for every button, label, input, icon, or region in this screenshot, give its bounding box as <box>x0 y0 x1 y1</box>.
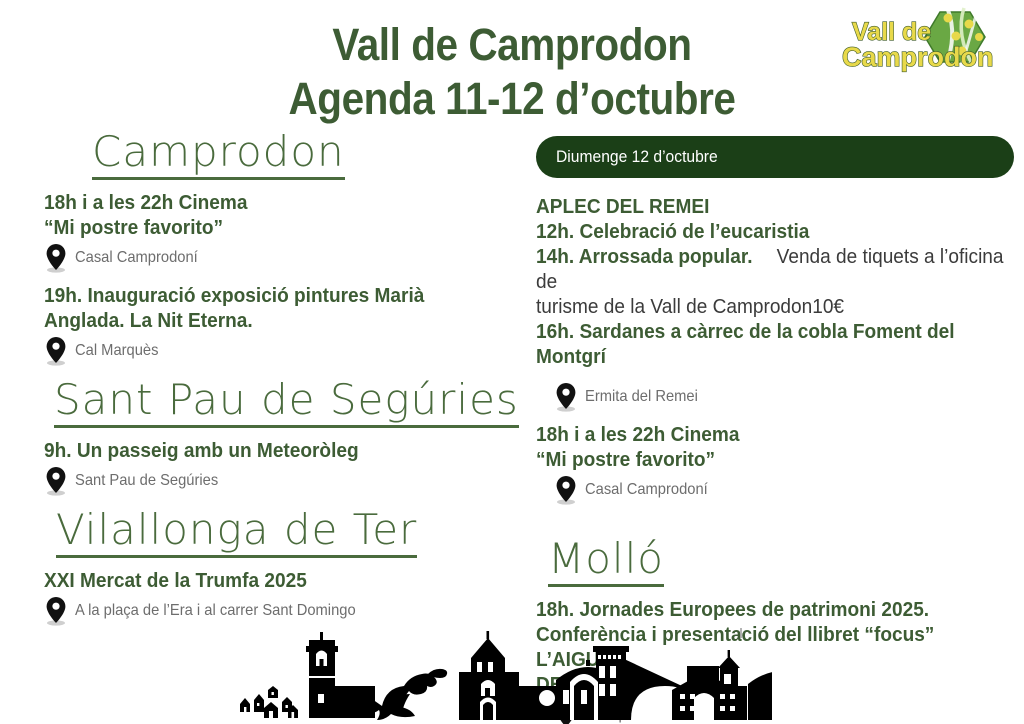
left-column: Camprodon 18h i a les 22h Cinema “Mi pos… <box>44 128 514 636</box>
map-pin-icon <box>44 243 68 273</box>
venue-row: A la plaça de l’Era i al carrer Sant Dom… <box>44 596 514 626</box>
title-line-2: Agenda 11-12 d’octubre <box>51 72 973 126</box>
section-heading-mollo: Molló <box>548 535 664 587</box>
venue-row: Sant Pau de Segúries <box>44 466 514 496</box>
map-pin-icon <box>44 336 68 366</box>
artifact-speck <box>740 628 742 638</box>
event-title-line-2: Anglada. La Nit Eterna. <box>44 308 516 333</box>
event-camprodon-exposicio: 19h. Inauguració exposició pintures Mari… <box>44 283 514 366</box>
event-vilallonga-trumfa: XXI Mercat de la Trumfa 2025 A la plaça … <box>44 568 514 626</box>
venue-label: Ermita del Remei <box>585 388 698 406</box>
aplec-14h-plain-cont: turisme de la Vall de Camprodon10€ <box>536 295 844 318</box>
map-pin-icon <box>554 475 578 505</box>
event-title-line-1: 19h. Inauguració exposició pintures Mari… <box>44 283 516 308</box>
venue-label: Casal Camprodoní <box>585 481 708 499</box>
section-heading-sant-pau-de-seguries: Sant Pau de Segúries <box>54 376 519 428</box>
event-title-line-1: 18h i a les 22h Cinema <box>44 190 516 215</box>
event-aplec-del-remei: APLEC DEL REMEI 12h. Celebració de l’euc… <box>536 194 1014 412</box>
event-title-line-1: 9h. Un passeig amb un Meteoròleg <box>44 438 516 463</box>
event-sant-pau-meteoroleg: 9h. Un passeig amb un Meteoròleg Sant Pa… <box>44 438 514 496</box>
poster-canvas: Vall de Camprodon Agenda 11-12 d’octubre… <box>0 0 1024 724</box>
aplec-14h-bold: 14h. Arrossada popular. <box>536 245 753 268</box>
event-title-line-1: 18h i a les 22h Cinema <box>536 422 1016 447</box>
venue-row: Cal Marquès <box>44 336 514 366</box>
section-heading-camprodon: Camprodon <box>92 128 345 180</box>
map-pin-icon <box>554 382 578 412</box>
venue-row: Ermita del Remei <box>554 382 1014 412</box>
event-title-line-2: “Mi postre favorito” <box>536 447 1016 472</box>
event-title-line-1: XXI Mercat de la Trumfa 2025 <box>44 568 516 593</box>
aplec-line-14h: 14h. Arrossada popular.Venda de tiquets … <box>536 244 1016 294</box>
map-pin-icon <box>44 596 68 626</box>
event-title-line-2: “Mi postre favorito” <box>44 215 516 240</box>
day-header-label: Diumenge 12 d’octubre <box>556 147 718 167</box>
map-pin-icon <box>44 466 68 496</box>
event-right-cinema: 18h i a les 22h Cinema “Mi postre favori… <box>536 422 1014 505</box>
aplec-line-14h-cont: turisme de la Vall de Camprodon10€ <box>536 294 1016 319</box>
venue-row: Casal Camprodoní <box>554 475 1014 505</box>
venue-label: A la plaça de l’Era i al carrer Sant Dom… <box>75 602 356 620</box>
venue-label: Casal Camprodoní <box>75 249 198 267</box>
camprodon-skyline-silhouette <box>232 624 772 724</box>
event-title-line-1: 18h. Jornades Europees de patrimoni 2025… <box>536 597 1016 622</box>
day-header-bar: Diumenge 12 d’octubre <box>536 136 1014 178</box>
section-heading-vilallonga-de-ter: Vilallonga de Ter <box>56 506 417 558</box>
logo-text-line-2: Camprodon <box>842 42 994 72</box>
aplec-heading: APLEC DEL REMEI <box>536 194 1016 219</box>
aplec-line-12h: 12h. Celebració de l’eucaristia <box>536 219 1016 244</box>
venue-row: Casal Camprodoní <box>44 243 514 273</box>
venue-label: Sant Pau de Segúries <box>75 472 218 490</box>
title-line-1: Vall de Camprodon <box>51 18 973 72</box>
event-camprodon-cinema: 18h i a les 22h Cinema “Mi postre favori… <box>44 190 514 273</box>
vall-de-camprodon-logo: Vall de Camprodon <box>836 4 1016 86</box>
venue-label: Cal Marquès <box>75 342 158 360</box>
aplec-line-16h: 16h. Sardanes a càrrec de la cobla Fomen… <box>536 319 1016 369</box>
